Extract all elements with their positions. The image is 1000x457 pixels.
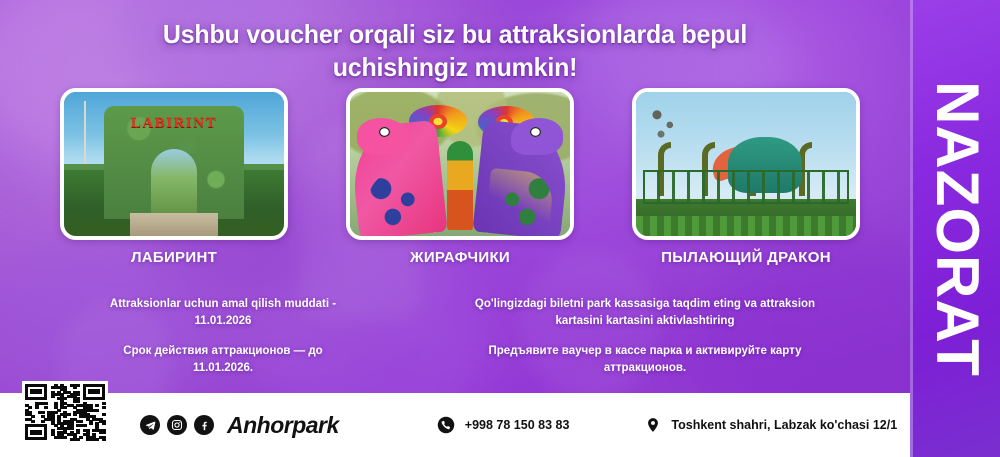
attraction-cards: LABIRINT ЛАБИРИНТ [60, 88, 860, 268]
info-block-validity: Attraksionlar uchun amal qilish muddati … [58, 296, 388, 377]
brand-name[interactable]: Anhorpark [227, 412, 339, 439]
info-instructions-ru-line-2: аттракционов. [420, 360, 870, 377]
attraction-card-dragon[interactable]: ПЫЛАЮЩИЙ ДРАКОН [632, 88, 860, 266]
headline: Ushbu voucher orqali siz bu attraksionla… [76, 18, 834, 84]
address-text[interactable]: Toshkent shahri, Labzak ko'chasi 12/1 [671, 418, 897, 432]
info-validity-ru: Срок действия аттракционов — до 11.01.20… [58, 343, 388, 376]
info-block-instructions: Qo'lingizdagi biletni park kassasiga taq… [420, 296, 870, 377]
attraction-caption-dragon: ПЫЛАЮЩИЙ ДРАКОН [632, 249, 860, 266]
info-instructions-ru-line-1: Предъявите ваучер в кассе парка и активи… [420, 343, 870, 360]
brand-group[interactable]: Anhorpark [140, 412, 339, 439]
attraction-caption-labyrinth: ЛАБИРИНТ [60, 249, 288, 266]
location-pin-icon [643, 416, 662, 435]
info-validity-uz: Attraksionlar uchun amal qilish muddati … [58, 296, 388, 329]
info-instructions-uz-line-1: Qo'lingizdagi biletni park kassasiga taq… [420, 296, 870, 313]
info-validity-ru-line-2: 11.01.2026. [58, 360, 388, 377]
facebook-icon[interactable] [194, 415, 214, 435]
instagram-icon[interactable] [167, 415, 187, 435]
info-validity-ru-line-1: Срок действия аттракционов — до [58, 343, 388, 360]
telegram-icon[interactable] [140, 415, 160, 435]
sidebar-label: NAZORAT [927, 81, 987, 377]
attraction-caption-giraffes: ЖИРАФЧИКИ [346, 249, 574, 266]
phone-icon [437, 416, 456, 435]
attraction-photo-dragon [632, 88, 860, 240]
voucher-banner: Ushbu voucher orqali siz bu attraksionla… [0, 0, 1000, 457]
info-instructions-uz: Qo'lingizdagi biletni park kassasiga taq… [420, 296, 870, 329]
info-validity-uz-line-1: Attraksionlar uchun amal qilish muddati … [58, 296, 388, 313]
info-validity-uz-line-2: 11.01.2026 [58, 313, 388, 330]
phone-contact[interactable]: +998 78 150 83 83 [437, 416, 570, 435]
sidebar-nazorat: NAZORAT [910, 0, 1000, 457]
info-instructions-ru: Предъявите ваучер в кассе парка и активи… [420, 343, 870, 376]
labirint-sign-text: LABIRINT [131, 115, 217, 132]
footer-bar: Anhorpark +998 78 150 83 83 [0, 393, 910, 457]
headline-line-1: Ushbu voucher orqali siz bu attraksionla… [76, 18, 834, 51]
attraction-photo-labyrinth: LABIRINT [60, 88, 288, 240]
attraction-card-giraffes[interactable]: ЖИРАФЧИКИ [346, 88, 574, 266]
phone-number[interactable]: +998 78 150 83 83 [465, 418, 570, 432]
headline-line-2: uchishingiz mumkin! [76, 51, 834, 84]
qr-code[interactable] [22, 381, 108, 443]
info-instructions-uz-line-2: kartasini kartasini aktivlashtiring [420, 313, 870, 330]
attraction-card-labyrinth[interactable]: LABIRINT ЛАБИРИНТ [60, 88, 288, 266]
attraction-photo-giraffes [346, 88, 574, 240]
address-contact[interactable]: Toshkent shahri, Labzak ko'chasi 12/1 [643, 416, 897, 435]
